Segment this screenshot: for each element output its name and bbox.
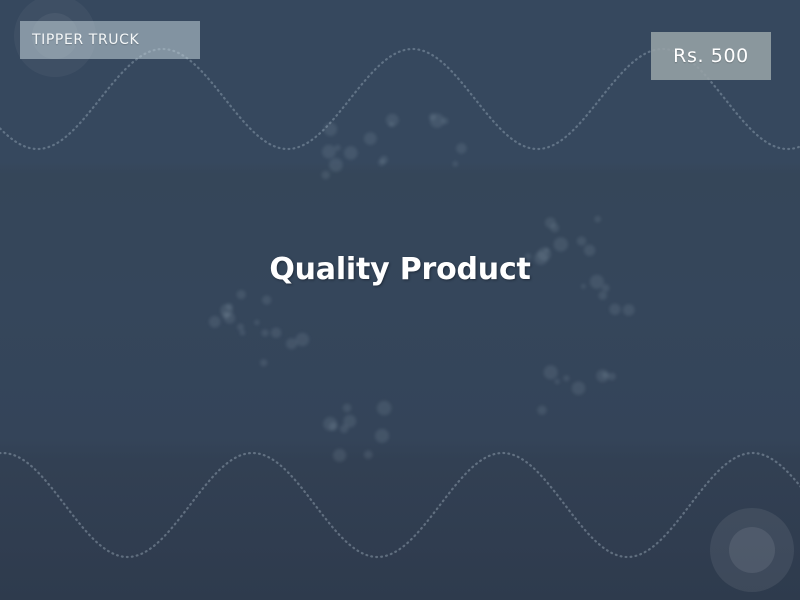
bottom-right-ring-outer-icon — [710, 508, 794, 592]
particle-decoration — [0, 0, 800, 600]
product-card-screen: TIPPER TRUCK Rs. 500 Quality Product — [0, 0, 800, 600]
price-badge[interactable]: Rs. 500 — [651, 32, 771, 80]
price-label: Rs. 500 — [673, 45, 749, 67]
product-name-chip[interactable]: TIPPER TRUCK — [20, 21, 200, 59]
bottom-wave-decoration — [0, 405, 800, 600]
bottom-right-ring-inner-icon — [729, 527, 775, 573]
headline-text: Quality Product — [0, 252, 800, 287]
product-name-label: TIPPER TRUCK — [32, 32, 139, 48]
